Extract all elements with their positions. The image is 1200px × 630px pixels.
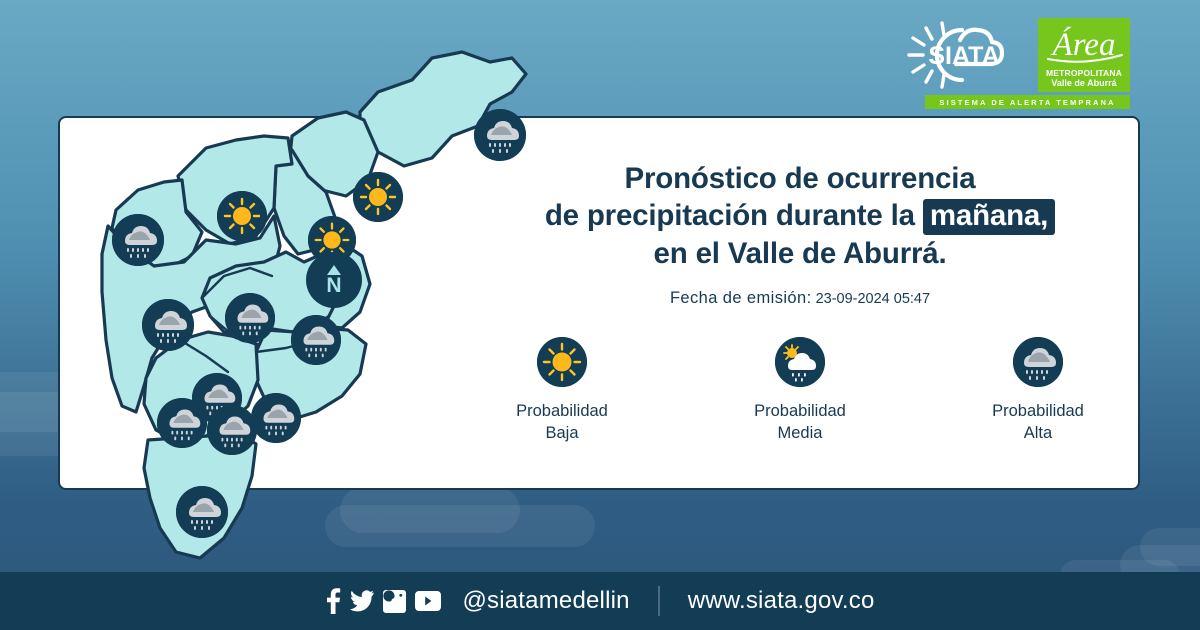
forecast-panel: Pronóstico de ocurrencia de precipitació…	[470, 160, 1130, 444]
legend-label-baja: Probabilidad Baja	[516, 400, 608, 444]
website-url[interactable]: www.siata.gov.co	[688, 587, 875, 615]
sun-icon	[537, 337, 587, 387]
cloud-rain-icon	[291, 315, 341, 365]
map-marker-la-estrella[interactable]	[157, 398, 207, 448]
legend-badge-media	[775, 337, 825, 387]
legend-label-baja-line1: Probabilidad	[516, 400, 608, 422]
map-marker-medellin[interactable]	[291, 315, 341, 365]
cloud-rain-icon	[142, 299, 194, 351]
social-links	[325, 588, 441, 614]
siata-wordmark: SIATA	[928, 42, 999, 70]
instagram-icon[interactable]	[383, 590, 406, 613]
headline-line-1: Pronóstico de ocurrencia	[470, 160, 1130, 197]
page-title: Pronóstico de ocurrencia de precipitació…	[470, 160, 1130, 272]
north-arrow-icon	[327, 265, 341, 275]
youtube-icon[interactable]	[415, 591, 441, 611]
area-script-text: Área	[1051, 26, 1116, 63]
issue-date-value: 23-09-2024 05:47	[816, 291, 931, 307]
legend-item-alta: Probabilidad Alta	[963, 337, 1113, 444]
tagline-text: SISTEMA DE ALERTA TEMPRANA	[939, 98, 1115, 107]
area-metropolitana-logo: Área METROPOLITANA Valle de Aburrá	[1038, 18, 1130, 92]
map-marker-bello[interactable]	[225, 293, 275, 343]
cloud-rain-icon	[251, 393, 301, 443]
map-marker-barbosa[interactable]	[474, 109, 526, 161]
legend-item-media: Probabilidad Media	[725, 337, 875, 444]
social-handle[interactable]: @siatamedellin	[462, 587, 629, 615]
footer-divider	[658, 586, 660, 616]
issue-date: Fecha de emisión:23-09-2024 05:47	[470, 289, 1130, 308]
footer-bar: @siatamedellin www.siata.gov.co	[0, 572, 1200, 630]
map-svg	[60, 40, 540, 570]
sun-icon	[353, 172, 403, 222]
headline-line-2-text: de precipitación durante la	[545, 199, 915, 232]
legend-label-alta-line1: Probabilidad	[992, 400, 1084, 422]
sun-cloud-rain-icon	[775, 337, 825, 387]
cloud-rain-icon	[112, 214, 164, 266]
map-marker-san-pedro[interactable]	[217, 191, 267, 241]
area-line2: Valle de Aburrá	[1051, 78, 1116, 89]
area-line1: METROPOLITANA	[1046, 68, 1122, 78]
map-marker-medellin-oeste[interactable]	[142, 299, 194, 351]
legend-label-baja-line2: Baja	[516, 422, 608, 444]
issue-date-label: Fecha de emisión:	[670, 289, 812, 307]
twitter-icon[interactable]	[350, 590, 374, 612]
legend-item-baja: Probabilidad Baja	[487, 337, 637, 444]
compass-rose: N	[306, 252, 362, 308]
logo-group: SIATA Área METROPOLITANA Valle de Aburrá…	[900, 18, 1130, 109]
compass-label: N	[326, 276, 341, 296]
area-script-icon: Área	[1038, 19, 1130, 65]
headline-highlight: mañana,	[923, 199, 1055, 235]
map-marker-girardota[interactable]	[353, 172, 403, 222]
legend-label-media: Probabilidad Media	[754, 400, 846, 444]
cloud-rain-icon	[1013, 337, 1063, 387]
legend-label-alta: Probabilidad Alta	[992, 400, 1084, 444]
map-marker-sabaneta[interactable]	[207, 405, 257, 455]
probability-legend: Probabilidad Baja	[470, 337, 1130, 444]
facebook-icon[interactable]	[325, 588, 341, 614]
cloud-rain-icon	[207, 405, 257, 455]
tagline-bar: SISTEMA DE ALERTA TEMPRANA	[925, 95, 1130, 109]
legend-label-alta-line2: Alta	[992, 422, 1084, 444]
legend-badge-alta	[1013, 337, 1063, 387]
cloud-rain-icon	[474, 109, 526, 161]
legend-label-media-line2: Media	[754, 422, 846, 444]
map-marker-bello-norte[interactable]	[112, 214, 164, 266]
cloud-rain-icon	[157, 398, 207, 448]
legend-label-media-line1: Probabilidad	[754, 400, 846, 422]
map-marker-caldas[interactable]	[176, 486, 228, 538]
valle-de-aburra-map	[60, 40, 540, 570]
sun-icon	[217, 191, 267, 241]
cloud-rain-icon	[225, 293, 275, 343]
cloud-rain-icon	[176, 486, 228, 538]
legend-badge-baja	[537, 337, 587, 387]
headline-line-3: en el Valle de Aburrá.	[470, 235, 1130, 272]
map-marker-envigado[interactable]	[251, 393, 301, 443]
headline-line-2: de precipitación durante la mañana,	[470, 197, 1130, 235]
siata-logo-icon: SIATA	[900, 18, 1028, 92]
